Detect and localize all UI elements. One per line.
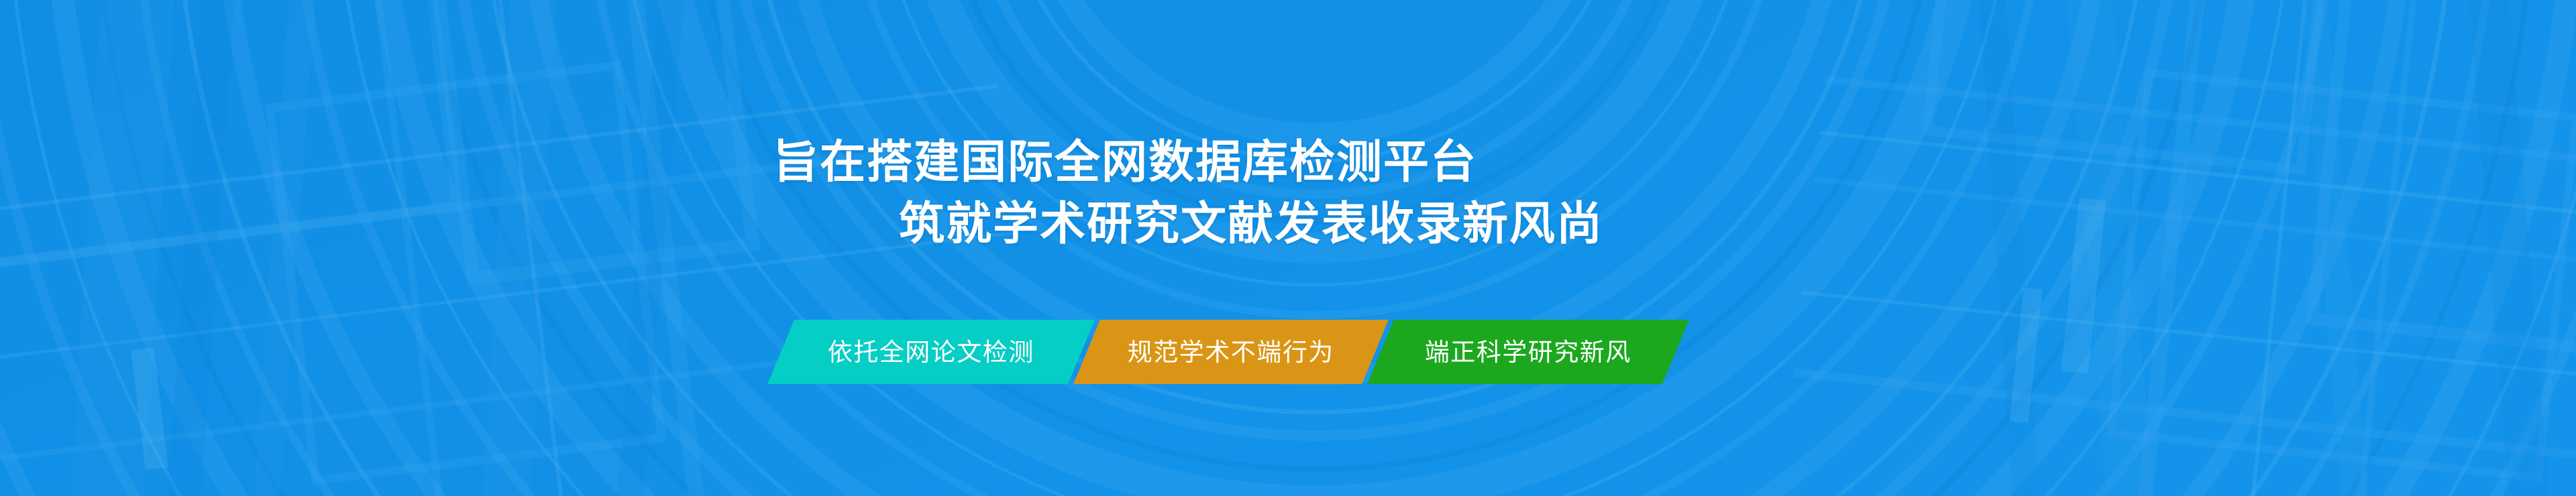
background-pattern	[0, 0, 2576, 496]
feature-tag-strip: 依托全网论文检测 规范学术不端行为 端正科学研究新风	[781, 320, 1676, 384]
feature-tag-3-label: 端正科学研究新风	[1425, 340, 1631, 365]
feature-tag-1-label: 依托全网论文检测	[828, 340, 1034, 365]
promo-banner: 旨在搭建国际全网数据库检测平台 筑就学术研究文献发表收录新风尚 依托全网论文检测…	[0, 0, 2576, 496]
feature-tag-2-label: 规范学术不端行为	[1128, 340, 1334, 365]
feature-tag-3[interactable]: 端正科学研究新风	[1367, 320, 1689, 384]
feature-tag-2[interactable]: 规范学术不端行为	[1073, 320, 1389, 384]
feature-tag-1[interactable]: 依托全网论文检测	[767, 320, 1095, 384]
